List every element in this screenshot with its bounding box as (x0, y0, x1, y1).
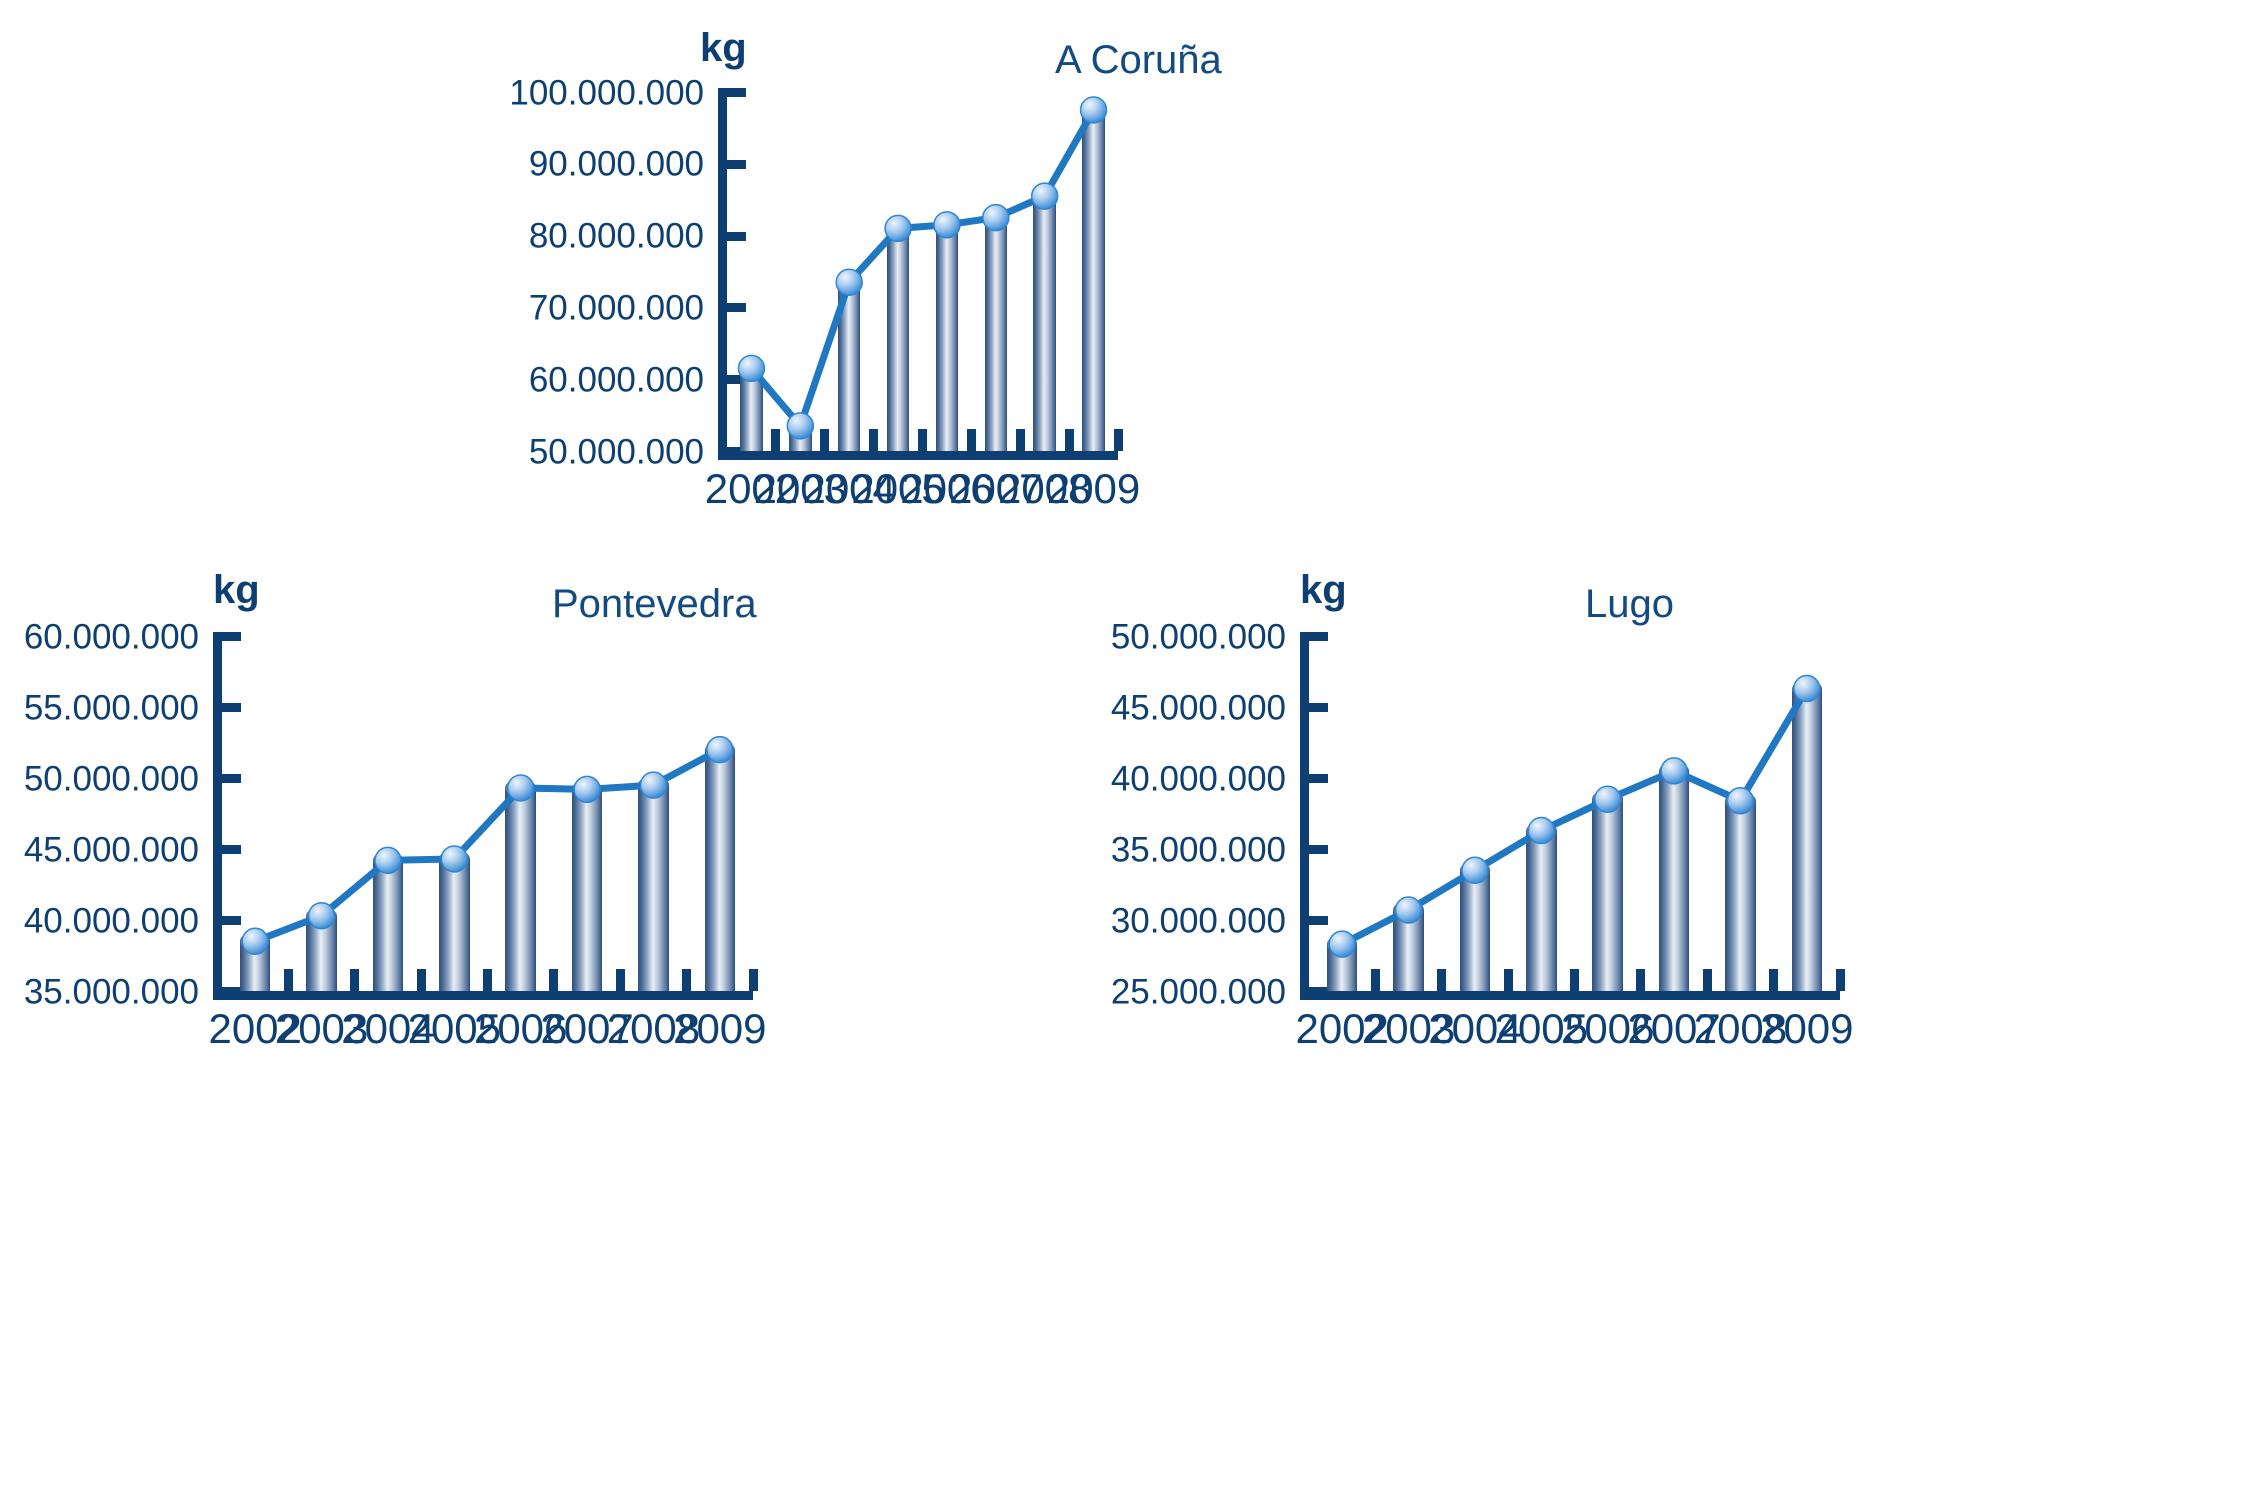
bar (572, 789, 603, 991)
bar (887, 228, 909, 451)
bar (439, 859, 470, 991)
x-axis-tick (1636, 969, 1645, 991)
chart-panel-lugo: kg Lugo 25.000.00030.000.00035.000.00040… (1120, 560, 2251, 1500)
y-axis-tick: 100.000.000 (718, 88, 746, 97)
bar (936, 225, 958, 451)
bar (985, 218, 1007, 451)
y-axis-tick: 40.000.000 (213, 916, 241, 925)
bar-cap (505, 779, 536, 797)
x-axis-tick (549, 969, 558, 991)
bar-cap (1033, 187, 1055, 205)
bar-cap (439, 850, 470, 868)
bar (1592, 799, 1623, 991)
x-axis-tick (1836, 969, 1845, 991)
x-axis-tick (350, 969, 359, 991)
y-axis-tick-label: 55.000.000 (24, 690, 199, 725)
bar (1033, 196, 1055, 451)
bar (306, 916, 337, 991)
bar-cap (1792, 680, 1823, 698)
y-axis-unit-label: kg (700, 28, 747, 68)
x-axis-tick (1769, 969, 1778, 991)
trend-line-overlay (213, 632, 753, 1000)
bar (838, 282, 860, 451)
bar-cap (838, 273, 860, 291)
x-axis-tick (869, 429, 878, 451)
bar (505, 788, 536, 991)
bar-cap (1327, 935, 1358, 953)
y-axis-unit-label: kg (1300, 570, 1347, 610)
y-axis-tick-label: 40.000.000 (24, 903, 199, 938)
y-axis (213, 632, 222, 1000)
y-axis-tick: 35.000.000 (213, 987, 241, 996)
bar-cap (936, 216, 958, 234)
y-axis-tick-label: 30.000.000 (1111, 903, 1286, 938)
bar (373, 860, 404, 991)
bar-cap (705, 741, 736, 759)
y-axis-tick-label: 45.000.000 (1111, 690, 1286, 725)
x-axis-tick (1065, 429, 1074, 451)
bar-cap (1393, 901, 1424, 919)
bar-cap (373, 851, 404, 869)
y-axis-tick-label: 50.000.000 (1111, 619, 1286, 654)
chart-panel-a-coruna: kg A Coruña 50.000.00060.000.00070.000.0… (0, 0, 1200, 520)
y-axis-tick: 45.000.000 (213, 845, 241, 854)
bar (740, 368, 762, 451)
bar-cap (985, 209, 1007, 227)
x-axis-tick (918, 429, 927, 451)
y-axis-tick-label: 40.000.000 (1111, 761, 1286, 796)
bar (1659, 771, 1690, 991)
x-axis-tick-label: 2009 (673, 1008, 766, 1050)
bar (1327, 944, 1358, 991)
y-axis-tick: 90.000.000 (718, 160, 746, 169)
x-axis (1300, 991, 1840, 1000)
chart-title: Pontevedra (552, 584, 757, 624)
y-axis-tick: 70.000.000 (718, 303, 746, 312)
bar-cap (789, 417, 811, 435)
y-axis-tick: 80.000.000 (718, 232, 746, 241)
y-axis-tick-label: 35.000.000 (1111, 832, 1286, 867)
y-axis-tick-label: 50.000.000 (529, 434, 704, 469)
x-axis-tick (1371, 969, 1380, 991)
plot-area-lugo: 25.000.00030.000.00035.000.00040.000.000… (1300, 632, 1840, 1000)
x-axis-tick (1114, 429, 1123, 451)
bar (240, 941, 271, 991)
x-axis-tick (967, 429, 976, 451)
y-axis-tick-label: 45.000.000 (24, 832, 199, 867)
bar-cap (638, 776, 669, 794)
bar (1082, 110, 1104, 451)
y-axis-tick: 50.000.000 (1300, 632, 1328, 641)
bar-cap (240, 932, 271, 950)
y-axis-tick: 25.000.000 (1300, 987, 1328, 996)
y-axis-tick: 50.000.000 (213, 774, 241, 783)
bar (1792, 689, 1823, 991)
x-axis-tick (1437, 969, 1446, 991)
bar-cap (740, 359, 762, 377)
y-axis-tick: 30.000.000 (1300, 916, 1328, 925)
y-axis-tick: 35.000.000 (1300, 845, 1328, 854)
bar (1393, 910, 1424, 991)
y-axis-tick-label: 25.000.000 (1111, 974, 1286, 1009)
x-axis-tick (1570, 969, 1579, 991)
chart-title: A Coruña (1055, 40, 1222, 80)
x-axis-tick-label: 2009 (1760, 1008, 1853, 1050)
x-axis-tick (820, 429, 829, 451)
bar-cap (1725, 792, 1756, 810)
bar (1526, 831, 1557, 991)
bar (1725, 801, 1756, 991)
bar-cap (1659, 762, 1690, 780)
y-axis-tick-label: 90.000.000 (529, 147, 704, 182)
y-axis-tick-label: 60.000.000 (529, 362, 704, 397)
y-axis-tick-label: 100.000.000 (509, 75, 704, 110)
chart-panel-pontevedra: kg Pontevedra 35.000.00040.000.00045.000… (0, 560, 800, 1500)
x-axis-tick (682, 969, 691, 991)
bar-cap (1526, 822, 1557, 840)
y-axis-tick: 60.000.000 (213, 632, 241, 641)
y-axis-tick-label: 70.000.000 (529, 290, 704, 325)
chart-title: Lugo (1585, 584, 1674, 624)
y-axis-tick-label: 35.000.000 (24, 974, 199, 1009)
x-axis-tick (483, 969, 492, 991)
y-axis (718, 88, 727, 460)
bar-cap (1082, 101, 1104, 119)
x-axis-tick (749, 969, 758, 991)
bar (638, 785, 669, 991)
y-axis-tick: 40.000.000 (1300, 774, 1328, 783)
y-axis-unit-label: kg (213, 570, 260, 610)
x-axis-tick (1504, 969, 1513, 991)
bar (1460, 870, 1491, 991)
y-axis-tick-label: 60.000.000 (24, 619, 199, 654)
x-axis-tick (616, 969, 625, 991)
y-axis (1300, 632, 1309, 1000)
bar (705, 750, 736, 991)
x-axis-tick (284, 969, 293, 991)
bar (789, 426, 811, 451)
bar-cap (1460, 861, 1491, 879)
bar-cap (887, 219, 909, 237)
x-axis-tick (1703, 969, 1712, 991)
x-axis-tick (771, 429, 780, 451)
bar-cap (572, 780, 603, 798)
x-axis-tick (1016, 429, 1025, 451)
plot-area-pontevedra: 35.000.00040.000.00045.000.00050.000.000… (213, 632, 753, 1000)
y-axis-tick-label: 50.000.000 (24, 761, 199, 796)
x-axis (213, 991, 753, 1000)
bar-cap (306, 907, 337, 925)
x-axis-tick (417, 969, 426, 991)
x-axis-tick-label: 2009 (1047, 468, 1140, 510)
x-axis (718, 451, 1118, 460)
y-axis-tick-label: 80.000.000 (529, 219, 704, 254)
trend-line-overlay (718, 88, 1118, 460)
plot-area-a-coruna: 50.000.00060.000.00070.000.00080.000.000… (718, 88, 1118, 460)
trend-line-overlay (1300, 632, 1840, 1000)
y-axis-tick: 45.000.000 (1300, 703, 1328, 712)
y-axis-tick: 55.000.000 (213, 703, 241, 712)
bar-cap (1592, 790, 1623, 808)
